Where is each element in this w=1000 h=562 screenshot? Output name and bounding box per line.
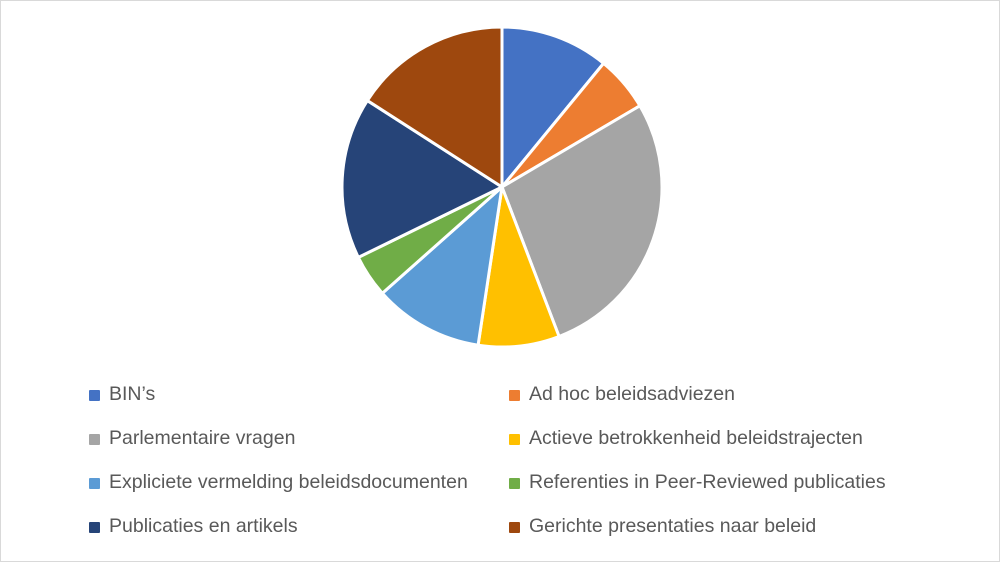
legend-item-label: Gerichte presentaties naar beleid [529,517,816,537]
legend-swatch-icon [89,390,100,401]
legend-item-label: Parlementaire vragen [109,429,295,449]
legend-swatch-icon [89,434,100,445]
legend-swatch-icon [509,434,520,445]
legend-swatch-icon [509,478,520,489]
legend-swatch-icon [509,522,520,533]
legend-swatch-icon [509,390,520,401]
slide-canvas: BIN’s Ad hoc beleidsadviezen Parlementai… [0,0,1000,562]
pie-slice-group [342,27,662,347]
legend-item-expliciete-vermelding-beleidsdocumenten[interactable]: Expliciete vermelding beleidsdocumenten [89,461,509,505]
chart-legend: BIN’s Ad hoc beleidsadviezen Parlementai… [1,373,1000,553]
legend-item-bins[interactable]: BIN’s [89,373,509,417]
legend-swatch-icon [89,522,100,533]
legend-item-gerichte-presentaties-naar-beleid[interactable]: Gerichte presentaties naar beleid [509,505,929,549]
legend-item-label: BIN’s [109,385,155,405]
legend-item-actieve-betrokkenheid-beleidstrajecten[interactable]: Actieve betrokkenheid beleidstrajecten [509,417,929,461]
legend-item-label: Actieve betrokkenheid beleidstrajecten [529,429,863,449]
pie-svg [342,27,662,347]
legend-swatch-icon [89,478,100,489]
legend-item-ad-hoc-beleidsadviezen[interactable]: Ad hoc beleidsadviezen [509,373,929,417]
legend-item-label: Publicaties en artikels [109,517,298,537]
legend-item-label: Expliciete vermelding beleidsdocumenten [109,473,468,493]
legend-item-label: Referenties in Peer-Reviewed publicaties [529,473,886,493]
legend-item-label: Ad hoc beleidsadviezen [529,385,735,405]
legend-item-publicaties-en-artikels[interactable]: Publicaties en artikels [89,505,509,549]
legend-item-referenties-in-peer-reviewed-publicaties[interactable]: Referenties in Peer-Reviewed publicaties [509,461,929,505]
pie-chart-area [1,1,1000,371]
pie-chart-graphic [342,27,662,347]
legend-item-parlementaire-vragen[interactable]: Parlementaire vragen [89,417,509,461]
